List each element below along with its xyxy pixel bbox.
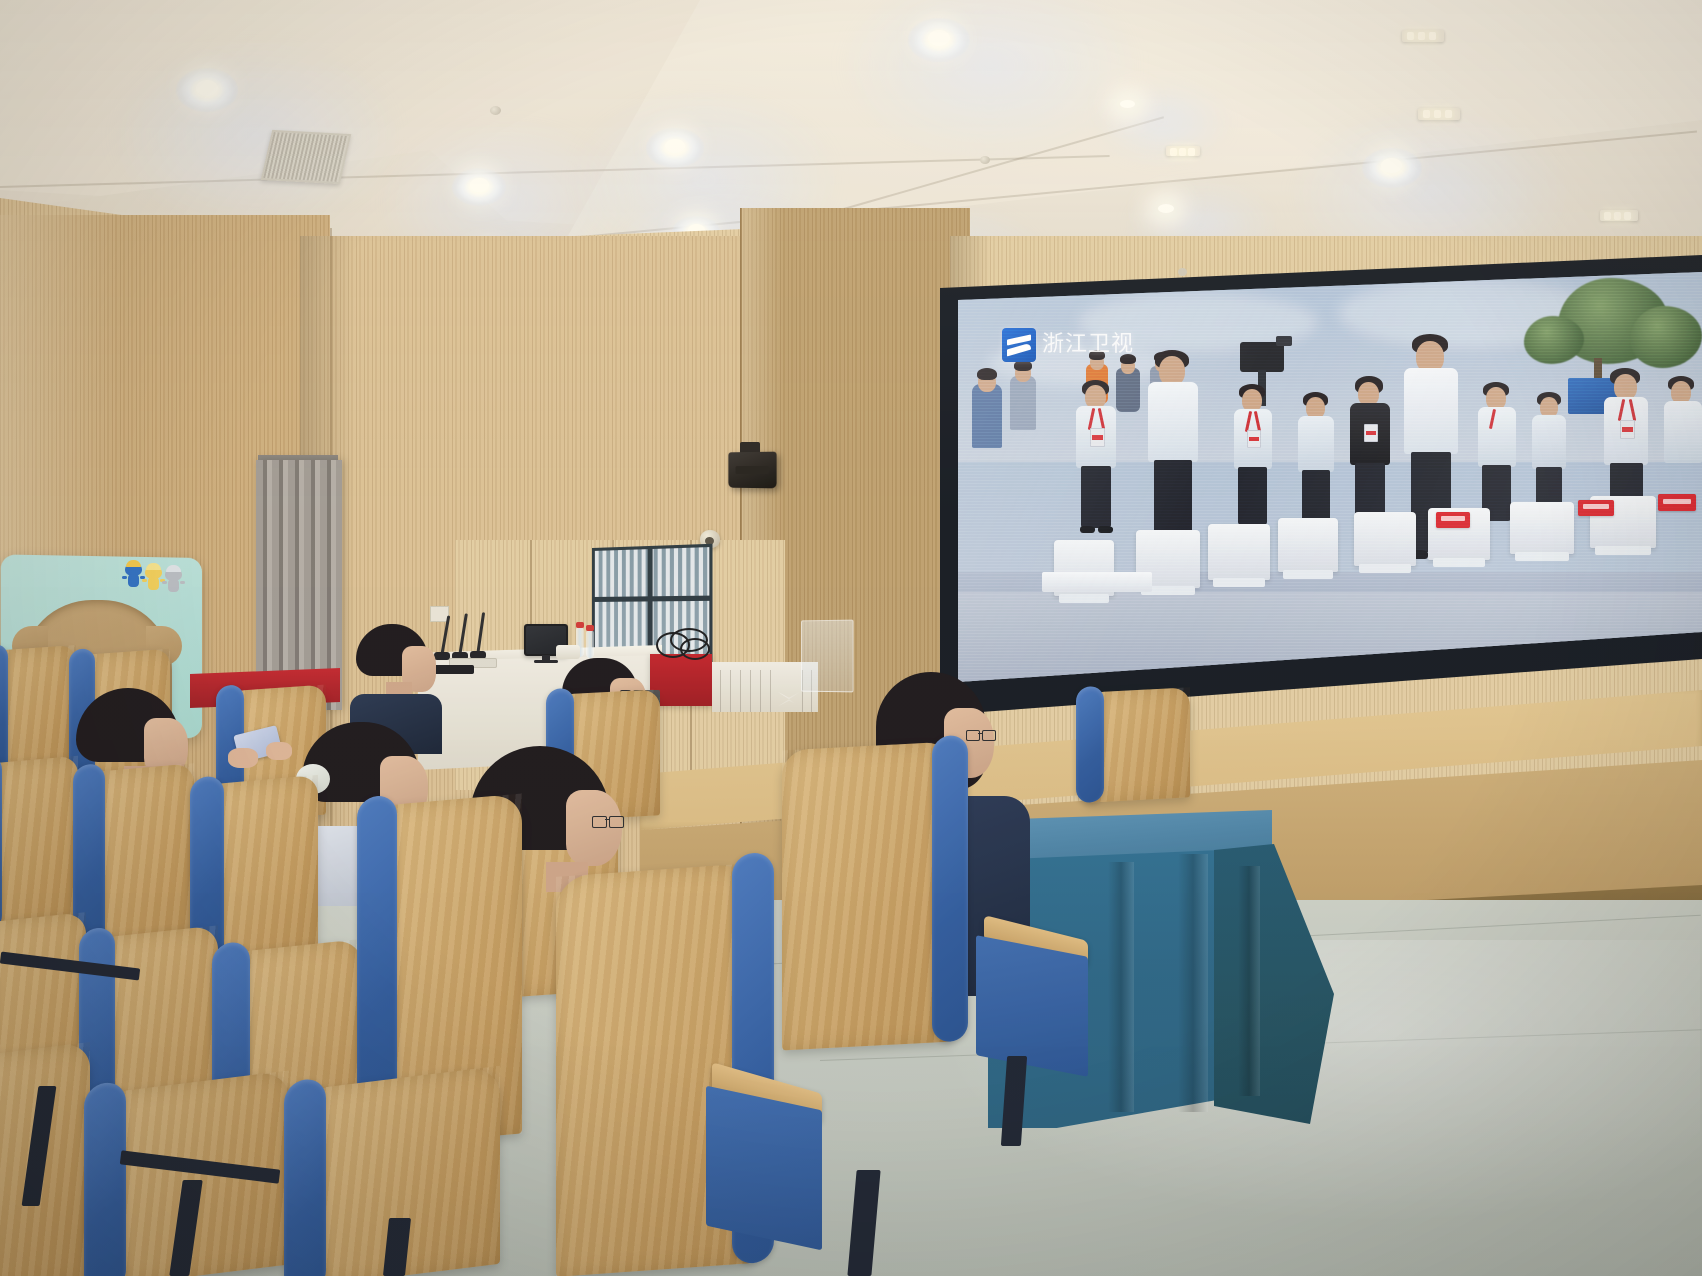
auditorium-photo: 浙江卫视 <box>0 0 1702 1276</box>
seat-r3-c2[interactable] <box>84 763 194 951</box>
table-cloth-fold-3 <box>1238 866 1260 1096</box>
seat-armrest-support-right <box>976 935 1088 1077</box>
microphone-base-1 <box>434 652 450 660</box>
light-glow-1 <box>110 40 400 230</box>
broadcast-chair-6 <box>1510 502 1574 554</box>
downlight-10-core <box>1158 204 1174 213</box>
table-cloth-fold-2 <box>1178 854 1208 1112</box>
downlight-9-core <box>1120 100 1135 108</box>
seat-right-front[interactable] <box>782 742 952 1051</box>
seat-r4-c5[interactable] <box>1086 687 1190 802</box>
crowd-blob-1 <box>972 384 1002 448</box>
water-bottle-2 <box>586 630 594 658</box>
broadcast-camera-icon <box>1240 342 1284 372</box>
acrylic-lectern <box>801 620 853 693</box>
hand-left <box>228 748 258 768</box>
broadcast-chair-4 <box>1354 512 1416 566</box>
hvac-ceiling-vent <box>261 130 352 184</box>
track-light-4 <box>1166 146 1200 156</box>
broadcast-chair-3 <box>1278 518 1338 572</box>
broadcast-placard-3 <box>1658 494 1696 511</box>
downlight-2-core <box>470 178 489 192</box>
broadcast-chair-2 <box>1208 524 1270 580</box>
table-cloth-fold-1 <box>1108 862 1134 1112</box>
monitor-base <box>534 660 558 663</box>
mascot-grey <box>165 568 182 594</box>
seat-armrest-support-front <box>706 1086 822 1251</box>
track-light-2 <box>1418 108 1460 120</box>
broadcast-placard-2 <box>1578 500 1614 516</box>
wall-speaker-icon <box>728 452 776 489</box>
light-glow-9 <box>1092 80 1232 164</box>
bottle-cap-2 <box>586 625 594 631</box>
desk-console <box>430 665 474 674</box>
downlight-4-core <box>928 30 950 46</box>
wall-fixing-point <box>1178 268 1187 276</box>
cable-coil <box>654 628 714 658</box>
led-screen[interactable]: 浙江卫视 <box>958 272 1702 682</box>
crowd-hair-1 <box>977 368 997 380</box>
hand-right <box>266 742 292 760</box>
broadcast-placard-1 <box>1436 512 1470 528</box>
sprinkler-1 <box>490 106 501 115</box>
seat-r3-c1[interactable] <box>0 756 78 932</box>
sprinkler-2 <box>980 156 990 164</box>
camera-hood <box>1276 336 1292 346</box>
table-cloth-side <box>1214 844 1338 1130</box>
track-light-1 <box>1402 30 1444 42</box>
track-light-3 <box>1600 210 1638 221</box>
tv-logo-text: 浙江卫视 <box>1042 332 1134 358</box>
downlight-1-core <box>196 80 218 96</box>
downlight-3-core <box>665 139 685 153</box>
desk-tray <box>556 645 580 659</box>
tv-logo-mark <box>1002 328 1036 362</box>
mascot-blue <box>125 563 142 589</box>
crowd-blob-3 <box>1116 368 1140 412</box>
bottle-cap-1 <box>576 622 584 628</box>
crowd-blob-2 <box>1010 376 1036 430</box>
seat-r3-c3[interactable] <box>202 775 318 969</box>
broadcast-table-skirt <box>1042 572 1152 592</box>
downlight-7-core <box>1381 158 1402 173</box>
mascot-yellow <box>145 566 162 592</box>
